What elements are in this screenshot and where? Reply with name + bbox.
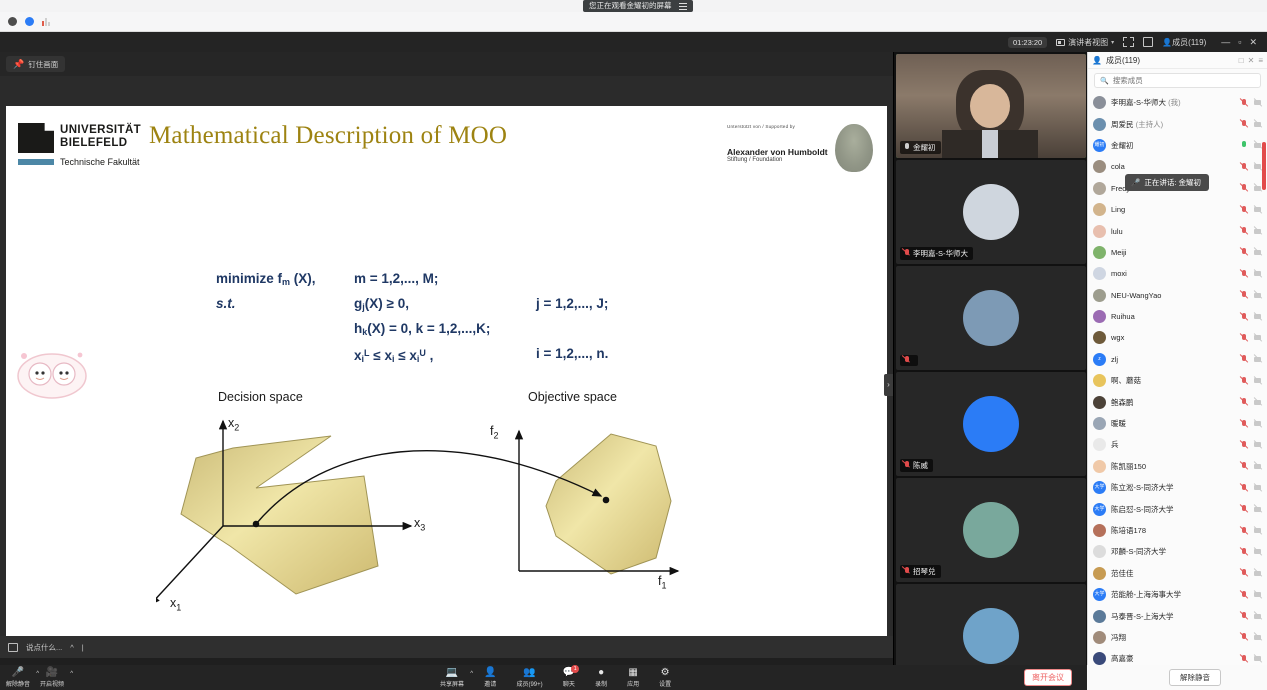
toolbar-button-label: 设置 bbox=[659, 679, 671, 688]
camera-off-icon[interactable] bbox=[1254, 547, 1263, 556]
participant-row[interactable]: wgx bbox=[1088, 327, 1267, 348]
camera-off-icon[interactable] bbox=[1254, 120, 1263, 129]
toolbar-button-label: 共享屏幕 bbox=[440, 679, 464, 688]
bielefeld-mark-icon bbox=[18, 123, 54, 153]
mic-on-icon[interactable] bbox=[1240, 141, 1249, 150]
record-icon: ● bbox=[598, 667, 604, 678]
annotation-divider: | bbox=[82, 643, 84, 652]
search-input[interactable] bbox=[1113, 76, 1255, 85]
camera-off-icon[interactable] bbox=[1254, 612, 1263, 621]
mic-muted-icon[interactable] bbox=[1240, 227, 1249, 236]
floating-sticker bbox=[10, 342, 94, 404]
participant-row[interactable]: Ruihua bbox=[1088, 306, 1267, 327]
participant-row[interactable]: 邓麟-S-同济大学 bbox=[1088, 541, 1267, 562]
avatar bbox=[963, 396, 1019, 452]
avatar: 大学 bbox=[1093, 503, 1106, 516]
camera-off-icon[interactable] bbox=[1254, 654, 1263, 663]
camera-off-icon[interactable] bbox=[1254, 333, 1263, 342]
hamburger-icon[interactable] bbox=[679, 3, 687, 10]
avatar bbox=[1093, 652, 1106, 665]
share-screen-icon: 💻 bbox=[446, 667, 458, 678]
gear-icon: ⚙ bbox=[661, 667, 670, 678]
participant-controls[interactable] bbox=[1240, 590, 1263, 599]
axis-label-x1: x1 bbox=[170, 596, 181, 613]
logo-line2: BIELEFELD bbox=[60, 137, 141, 150]
toolbar-share-screen-button[interactable]: 💻共享屏幕^ bbox=[440, 667, 464, 688]
participant-row[interactable]: Meiji bbox=[1088, 242, 1267, 263]
participant-controls[interactable] bbox=[1240, 547, 1263, 556]
mic-muted-icon bbox=[903, 567, 910, 576]
participant-row[interactable]: 耀初金耀初 bbox=[1088, 135, 1267, 156]
avatar bbox=[1093, 524, 1106, 537]
avatar bbox=[1093, 203, 1106, 216]
participant-controls[interactable] bbox=[1240, 376, 1263, 385]
camera-off-icon[interactable] bbox=[1254, 291, 1263, 300]
avatar bbox=[1093, 331, 1106, 344]
mic-muted-icon[interactable] bbox=[1240, 483, 1249, 492]
speaking-tooltip: 🎤 正在讲话: 金耀初 bbox=[1125, 174, 1209, 191]
pin-icon: 📌 bbox=[13, 59, 24, 70]
mic-muted-icon[interactable] bbox=[1240, 248, 1249, 257]
annotation-bar[interactable]: 说点什么... ^ | bbox=[0, 636, 893, 658]
participant-row[interactable]: 陈培语178 bbox=[1088, 520, 1267, 541]
meeting-timer: 01:23:20 bbox=[1008, 37, 1047, 48]
toolbar-button-label: 开启视频 bbox=[40, 679, 64, 688]
chevron-up-icon[interactable]: ^ bbox=[36, 671, 39, 677]
participant-name: 冯翔 bbox=[1111, 632, 1235, 643]
apps-icon: ▦ bbox=[628, 667, 637, 678]
axis-label-f2: f2 bbox=[490, 424, 499, 441]
camera-off-icon[interactable] bbox=[1254, 505, 1263, 514]
math-cell-mid: xiL ≤ xi ≤ xiU , bbox=[354, 341, 433, 372]
mic-muted-icon: 🎤 bbox=[1131, 178, 1140, 187]
mic-muted-icon[interactable] bbox=[1240, 419, 1249, 428]
camera-off-icon[interactable] bbox=[1254, 569, 1263, 578]
shared-screen-area: UNIVERSITÄT BIELEFELD Technische Fakultä… bbox=[0, 76, 893, 636]
participant-controls[interactable] bbox=[1240, 612, 1263, 621]
video-tile-name: 金耀初 bbox=[900, 141, 941, 154]
mic-muted-icon[interactable] bbox=[1240, 440, 1249, 449]
camera-off-icon[interactable] bbox=[1254, 419, 1263, 428]
camera-off-icon[interactable] bbox=[1254, 248, 1263, 257]
participant-name: Meiji bbox=[1111, 248, 1235, 257]
invite-person-icon: 👤 bbox=[484, 667, 496, 678]
participant-name: lulu bbox=[1111, 227, 1235, 236]
unmute-all-button[interactable]: 解除静音 bbox=[1169, 669, 1221, 686]
avatar bbox=[963, 502, 1019, 558]
mic-muted-icon bbox=[903, 356, 910, 365]
participant-name: Ling bbox=[1111, 205, 1235, 214]
camera-off-icon[interactable] bbox=[1254, 483, 1263, 492]
speaking-tooltip-text: 正在讲话: 金耀初 bbox=[1144, 177, 1201, 188]
toolbar-button-label: 应用 bbox=[627, 679, 639, 688]
screenshare-notice-text: 您正在观看金耀初的屏幕 bbox=[589, 0, 672, 12]
participant-controls[interactable] bbox=[1240, 269, 1263, 278]
participant-controls[interactable] bbox=[1240, 398, 1263, 407]
decision-space-label: Decision space bbox=[218, 390, 303, 404]
mic-muted-icon[interactable] bbox=[1240, 526, 1249, 535]
chevron-up-icon[interactable]: ^ bbox=[70, 671, 73, 677]
participants-count-header[interactable]: 👤成员(119) bbox=[1162, 37, 1206, 48]
participant-name: Ruihua bbox=[1111, 312, 1235, 321]
participant-name: 暖暖 bbox=[1111, 418, 1235, 429]
math-cell-mid: m = 1,2,..., M; bbox=[354, 266, 438, 291]
close-button[interactable]: ✕ bbox=[1249, 37, 1257, 48]
screenshare-strip: 📌 钉住画面 bbox=[0, 52, 893, 76]
annotation-placeholder: 说点什么... bbox=[26, 642, 62, 653]
avatar bbox=[1093, 460, 1106, 473]
participant-row[interactable]: 鲍森鹏 bbox=[1088, 391, 1267, 412]
participant-name: 陈培语178 bbox=[1111, 525, 1235, 536]
avatar bbox=[1093, 631, 1106, 644]
avatar bbox=[1093, 225, 1106, 238]
close-icon[interactable]: ✕ bbox=[1248, 56, 1255, 65]
math-cell-right: i = 1,2,..., n. bbox=[536, 341, 608, 366]
toolbar-button-label: 解除静音 bbox=[6, 679, 30, 688]
participant-row[interactable]: 兵 bbox=[1088, 434, 1267, 455]
participant-controls[interactable] bbox=[1240, 654, 1263, 663]
camera-off-icon[interactable] bbox=[1254, 633, 1263, 642]
participant-name: 周爱民 (主持人) bbox=[1111, 119, 1235, 130]
sponsor-name: Alexander von Humboldt bbox=[727, 147, 832, 157]
mic-muted-icon[interactable] bbox=[1240, 398, 1249, 407]
video-tile-label: 陈威 bbox=[913, 460, 928, 471]
mic-muted-icon[interactable] bbox=[1240, 547, 1249, 556]
participant-controls[interactable] bbox=[1240, 291, 1263, 300]
mic-muted-icon[interactable] bbox=[1240, 612, 1249, 621]
avatar bbox=[1093, 118, 1106, 131]
toolbar-button-label: 邀请 bbox=[484, 679, 496, 688]
participant-controls[interactable] bbox=[1240, 312, 1263, 321]
menu-icon[interactable]: ≡ bbox=[1258, 56, 1263, 65]
participant-name: 马泰晋-S-上海大学 bbox=[1111, 611, 1235, 622]
avatar: z bbox=[1093, 353, 1106, 366]
minimize-icon[interactable]: □ bbox=[1239, 56, 1244, 65]
video-tile-name: 陈威 bbox=[900, 459, 933, 472]
math-cell-left: s.t. bbox=[216, 291, 236, 316]
camera-off-icon[interactable] bbox=[1254, 590, 1263, 599]
participant-controls[interactable] bbox=[1240, 633, 1263, 642]
participant-controls[interactable] bbox=[1240, 526, 1263, 535]
meeting-toolbar: 🎤解除静音^🎥开启视频^ 💻共享屏幕^👤邀请👥成员(99+)💬1聊天●录制▦应用… bbox=[0, 665, 1267, 690]
avatar: 耀初 bbox=[1093, 139, 1106, 152]
avatar: 大学 bbox=[1093, 588, 1106, 601]
objective-space-label: Objective space bbox=[528, 390, 617, 404]
page-title: Mathematical Description of MOO bbox=[149, 122, 507, 150]
minimize-button[interactable]: — bbox=[1221, 37, 1230, 48]
participants-scrollbar[interactable] bbox=[1262, 142, 1266, 190]
participant-controls[interactable] bbox=[1240, 120, 1263, 129]
participant-controls[interactable] bbox=[1240, 505, 1263, 514]
video-tile[interactable]: 陈威 bbox=[896, 372, 1086, 476]
toolbar-button-label: 录制 bbox=[595, 679, 607, 688]
sponsor-small: Unterstützt von / Supported by bbox=[727, 124, 832, 129]
participant-name: zlj bbox=[1111, 355, 1235, 364]
view-mode-label: 演讲者视图 bbox=[1068, 37, 1108, 48]
avatar: 大学 bbox=[1093, 481, 1106, 494]
participant-row[interactable]: 陈凯丽150 bbox=[1088, 456, 1267, 477]
mic-muted-icon[interactable] bbox=[1240, 184, 1249, 193]
avatar bbox=[1093, 396, 1106, 409]
comment-icon[interactable] bbox=[8, 643, 18, 652]
participant-name: cola bbox=[1111, 162, 1235, 171]
maximize-button[interactable]: ▫ bbox=[1238, 37, 1241, 48]
video-filmstrip[interactable]: 金耀初李明嘉-S-华师大陈威招琴兑安祥▾ bbox=[893, 52, 1087, 690]
video-tile[interactable]: 招琴兑 bbox=[896, 478, 1086, 582]
mic-muted-icon[interactable] bbox=[1240, 98, 1249, 107]
avatar bbox=[1093, 289, 1106, 302]
mic-muted-icon[interactable] bbox=[1240, 333, 1249, 342]
sponsor-block: Unterstützt von / Supported by Alexander… bbox=[727, 124, 832, 163]
monitor-icon bbox=[1056, 39, 1065, 46]
avatar bbox=[963, 608, 1019, 664]
sponsor-sub: Stiftung / Foundation bbox=[727, 157, 832, 163]
dark-dot-icon[interactable] bbox=[8, 17, 17, 26]
participant-controls[interactable] bbox=[1240, 98, 1263, 107]
camera-off-icon[interactable] bbox=[1254, 269, 1263, 278]
axis-label-f1: f1 bbox=[658, 574, 667, 591]
participant-name: 金耀初 bbox=[1111, 140, 1235, 151]
participants-panel-header: 👤 成员(119) □ ✕ ≡ bbox=[1088, 52, 1267, 69]
participant-controls[interactable] bbox=[1240, 355, 1263, 364]
mic-muted-icon[interactable] bbox=[1240, 505, 1249, 514]
video-tile-name bbox=[900, 355, 918, 366]
participants-icon: 👥 bbox=[523, 667, 535, 678]
avatar bbox=[1093, 417, 1106, 430]
video-tile-name: 招琴兑 bbox=[900, 565, 941, 578]
square-icon[interactable] bbox=[1143, 37, 1153, 47]
axis-label-x2: x2 bbox=[228, 416, 239, 433]
toolbar-button-label: 成员(99+) bbox=[516, 679, 542, 688]
avatar bbox=[1093, 610, 1106, 623]
zoom-window: 01:23:20 演讲者视图 ▾ 👤成员(119) — ▫ ✕ 📌 bbox=[0, 32, 1267, 690]
browser-toolbar bbox=[0, 12, 1267, 32]
zoom-top-bar: 01:23:20 演讲者视图 ▾ 👤成员(119) — ▫ ✕ bbox=[0, 32, 1267, 52]
participants-search[interactable]: 🔍 bbox=[1094, 73, 1261, 88]
avatar bbox=[1093, 267, 1106, 280]
video-tile-label: 招琴兑 bbox=[913, 566, 936, 577]
participant-controls[interactable] bbox=[1240, 483, 1263, 492]
mic-muted-icon[interactable] bbox=[1240, 120, 1249, 129]
view-mode-selector[interactable]: 演讲者视图 ▾ bbox=[1056, 37, 1114, 48]
logo-faculty: Technische Fakultät bbox=[60, 157, 140, 167]
mic-muted-icon[interactable] bbox=[1240, 269, 1249, 278]
logo-line1: UNIVERSITÄT bbox=[60, 124, 141, 137]
collapse-panel-handle[interactable]: › bbox=[884, 374, 893, 396]
avatar bbox=[1093, 310, 1106, 323]
participant-row[interactable]: 冯翔 bbox=[1088, 627, 1267, 648]
participant-name: 范能舱-上海海事大学 bbox=[1111, 589, 1235, 600]
participant-controls[interactable] bbox=[1240, 333, 1263, 342]
participant-name: 陈启怼-S-同济大学 bbox=[1111, 504, 1235, 515]
video-tile-label: 李明嘉-S-华师大 bbox=[913, 248, 968, 259]
avatar bbox=[1093, 182, 1106, 195]
camera-off-icon[interactable] bbox=[1254, 462, 1263, 471]
participant-row[interactable]: moxi bbox=[1088, 263, 1267, 284]
toolbar-apps-button[interactable]: ▦应用 bbox=[627, 667, 639, 688]
moo-figure: Decision space Objective space x2 x3 x1 … bbox=[156, 396, 716, 636]
mic-muted-icon[interactable] bbox=[1240, 569, 1249, 578]
video-tile-name: 李明嘉-S-华师大 bbox=[900, 247, 973, 260]
axis-label-x3: x3 bbox=[414, 516, 425, 533]
chevron-down-icon[interactable]: ▾ bbox=[1111, 39, 1114, 46]
math-cell-right: j = 1,2,..., J; bbox=[536, 291, 608, 316]
mic-muted-icon[interactable] bbox=[1240, 355, 1249, 364]
moo-figure-svg bbox=[156, 396, 716, 636]
toolbar-center-group[interactable]: 💻共享屏幕^👤邀请👥成员(99+)💬1聊天●录制▦应用⚙设置 bbox=[440, 667, 671, 688]
avatar bbox=[1093, 246, 1106, 259]
video-tile[interactable]: 李明嘉-S-华师大 bbox=[896, 160, 1086, 264]
avatar bbox=[1093, 96, 1106, 109]
camera-off-icon[interactable] bbox=[1254, 526, 1263, 535]
toolbar-invite-person-button[interactable]: 👤邀请 bbox=[484, 667, 496, 688]
participant-name: moxi bbox=[1111, 269, 1235, 278]
mic-muted-icon[interactable] bbox=[1240, 590, 1249, 599]
toolbar-chat-button[interactable]: 💬1聊天 bbox=[563, 667, 575, 688]
avatar bbox=[1093, 567, 1106, 580]
participant-row[interactable]: 大学陈立淞-S-同济大学 bbox=[1088, 477, 1267, 498]
participant-name: 李明嘉-S-华师大 (我) bbox=[1111, 97, 1235, 108]
avatar bbox=[963, 184, 1019, 240]
participant-row[interactable]: 马泰晋-S-上海大学 bbox=[1088, 605, 1267, 626]
participant-name: 范佳佳 bbox=[1111, 568, 1235, 579]
participant-controls[interactable] bbox=[1240, 569, 1263, 578]
participant-controls[interactable] bbox=[1240, 227, 1263, 236]
avatar bbox=[1093, 545, 1106, 558]
participant-row[interactable]: NEU-WangYao bbox=[1088, 285, 1267, 306]
participant-name: 邓麟-S-同济大学 bbox=[1111, 546, 1235, 557]
participant-row[interactable]: 周爱民 (主持人) bbox=[1088, 113, 1267, 134]
camera-off-icon[interactable] bbox=[1254, 398, 1263, 407]
camera-off-icon[interactable] bbox=[1254, 312, 1263, 321]
mic-muted-icon[interactable] bbox=[1240, 291, 1249, 300]
mic-muted-icon[interactable] bbox=[1240, 633, 1249, 642]
participant-name: 啊、蘑菇 bbox=[1111, 375, 1235, 386]
humboldt-bust-icon bbox=[835, 124, 873, 172]
chart-icon[interactable] bbox=[42, 17, 51, 26]
presentation-slide: UNIVERSITÄT BIELEFELD Technische Fakultä… bbox=[6, 106, 887, 636]
participant-controls[interactable] bbox=[1240, 184, 1263, 193]
camera-off-icon[interactable] bbox=[1254, 227, 1263, 236]
mic-muted-icon[interactable] bbox=[1240, 462, 1249, 471]
logo-blue-bar bbox=[18, 159, 54, 165]
camera-off-icon[interactable] bbox=[1254, 376, 1263, 385]
toolbar-record-button[interactable]: ●录制 bbox=[595, 667, 607, 688]
participant-name: wgx bbox=[1111, 333, 1235, 342]
participant-row[interactable]: 大学范能舱-上海海事大学 bbox=[1088, 584, 1267, 605]
participant-row[interactable]: lulu bbox=[1088, 220, 1267, 241]
participant-name: 高嘉豪 bbox=[1111, 653, 1235, 664]
participant-row[interactable]: 暖暖 bbox=[1088, 413, 1267, 434]
mic-muted-icon[interactable] bbox=[1240, 654, 1249, 663]
participant-row[interactable]: 李明嘉-S-华师大 (我) bbox=[1088, 92, 1267, 113]
mic-muted-icon bbox=[903, 249, 910, 258]
chevron-up-icon[interactable]: ^ bbox=[470, 671, 473, 677]
video-tile-label: 金耀初 bbox=[913, 142, 936, 153]
avatar bbox=[1093, 374, 1106, 387]
toolbar-video-off-button[interactable]: 🎥开启视频^ bbox=[40, 667, 64, 688]
toolbar-button-label: 聊天 bbox=[563, 679, 575, 688]
participant-row[interactable]: 大学陈启怼-S-同济大学 bbox=[1088, 498, 1267, 519]
mic-muted-icon[interactable] bbox=[1240, 376, 1249, 385]
mic-muted-icon[interactable] bbox=[1240, 312, 1249, 321]
video-tile[interactable]: 金耀初 bbox=[896, 54, 1086, 158]
participant-controls[interactable] bbox=[1240, 248, 1263, 257]
video-off-icon: 🎥 bbox=[46, 667, 58, 678]
participant-row[interactable]: Ling bbox=[1088, 199, 1267, 220]
camera-off-icon[interactable] bbox=[1254, 355, 1263, 364]
avatar bbox=[1093, 438, 1106, 451]
camera-off-icon[interactable] bbox=[1254, 440, 1263, 449]
avatar bbox=[1093, 160, 1106, 173]
video-tile[interactable] bbox=[896, 266, 1086, 370]
mic-on-icon bbox=[903, 143, 910, 152]
leave-meeting-button[interactable]: 离开会议 bbox=[1024, 669, 1072, 686]
participant-controls[interactable] bbox=[1240, 205, 1263, 214]
pin-screen-button[interactable]: 📌 钉住画面 bbox=[6, 56, 65, 72]
participant-name: 兵 bbox=[1111, 439, 1235, 450]
participant-controls[interactable] bbox=[1240, 162, 1263, 171]
participant-controls[interactable] bbox=[1240, 440, 1263, 449]
fullscreen-icon[interactable] bbox=[1123, 37, 1134, 47]
participant-controls[interactable] bbox=[1240, 419, 1263, 428]
pin-screen-label: 钉住画面 bbox=[28, 59, 58, 70]
toolbar-participants-button[interactable]: 👥成员(99+) bbox=[516, 667, 542, 688]
participants-panel-title: 成员(119) bbox=[1106, 55, 1235, 66]
mic-muted-icon[interactable] bbox=[1240, 205, 1249, 214]
mic-muted-icon[interactable] bbox=[1240, 162, 1249, 171]
participant-controls[interactable] bbox=[1240, 141, 1263, 150]
person-icon: 👤 bbox=[1092, 56, 1102, 65]
camera-off-icon[interactable] bbox=[1254, 205, 1263, 214]
toolbar-mic-muted-button[interactable]: 🎤解除静音^ bbox=[6, 667, 30, 688]
participant-controls[interactable] bbox=[1240, 462, 1263, 471]
participant-row[interactable]: 啊、蘑菇 bbox=[1088, 370, 1267, 391]
zoom-meeting-window: 您正在观看金耀初的屏幕 01:23:20 演讲者视图 ▾ 👤成员(119) — bbox=[0, 0, 1267, 690]
participant-name: 陈立淞-S-同济大学 bbox=[1111, 482, 1235, 493]
toolbar-gear-button[interactable]: ⚙设置 bbox=[659, 667, 671, 688]
screenshare-notice-chip[interactable]: 您正在观看金耀初的屏幕 bbox=[583, 0, 693, 12]
toolbar-left-group[interactable]: 🎤解除静音^🎥开启视频^ bbox=[0, 667, 64, 688]
blue-globe-icon[interactable] bbox=[25, 17, 34, 26]
participants-panel[interactable]: 👤 成员(119) □ ✕ ≡ 🔍 李明嘉-S-华师大 (我)周爱民 (主持人)… bbox=[1087, 52, 1267, 690]
search-icon: 🔍 bbox=[1100, 77, 1109, 85]
camera-off-icon[interactable] bbox=[1254, 98, 1263, 107]
participant-row[interactable]: 范佳佳 bbox=[1088, 563, 1267, 584]
participant-row[interactable]: zzlj bbox=[1088, 349, 1267, 370]
mic-muted-icon bbox=[903, 461, 910, 470]
notification-badge: 1 bbox=[571, 665, 579, 673]
mic-muted-icon: 🎤 bbox=[12, 667, 24, 678]
avatar bbox=[963, 290, 1019, 346]
participant-name: NEU-WangYao bbox=[1111, 291, 1235, 300]
participant-name: 陈凯丽150 bbox=[1111, 461, 1235, 472]
annotation-caret-icon[interactable]: ^ bbox=[70, 643, 74, 652]
participant-name: 鲍森鹏 bbox=[1111, 397, 1235, 408]
